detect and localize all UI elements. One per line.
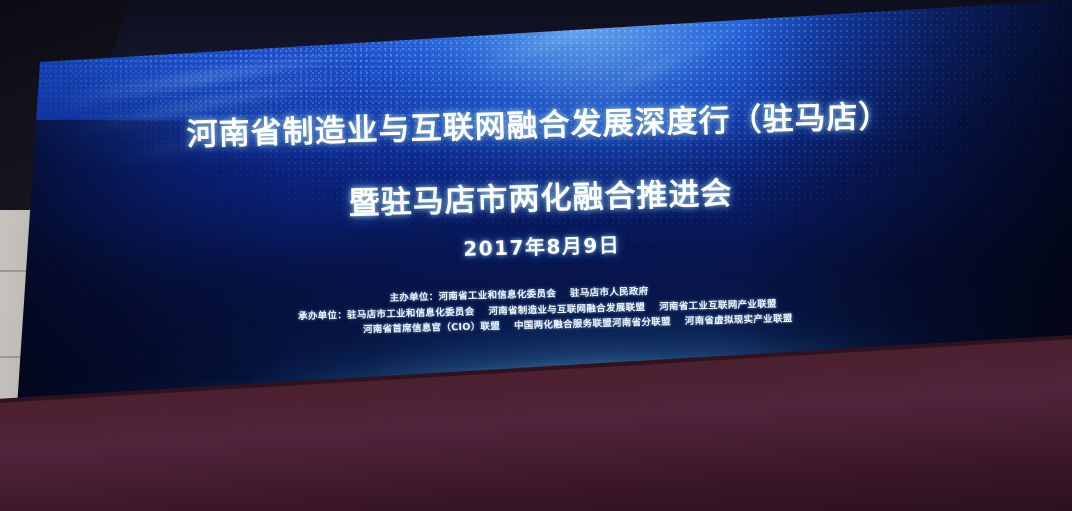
organizer-segment: 河南省制造业与互联网融合发展联盟 [488,302,645,317]
organizer-segment: 主办单位：河南省工业和信息化委员会 [389,288,556,303]
organizer-segment: 中国两化融合服务联盟河南省分联盟 [514,316,671,331]
organizer-segment: 河南省虚拟现实产业联盟 [685,313,793,327]
organizer-segment: 驻马店市人民政府 [570,286,649,299]
event-title-line-1: 河南省制造业与互联网融合发展深度行（驻马店） [2,86,1072,159]
conference-hall-photo: 河南省制造业与互联网融合发展深度行（驻马店） 暨驻马店市两化融合推进会 2017… [0,0,1072,511]
organizer-segment: 河南省首席信息官（CIO）联盟 [363,321,500,336]
organizer-segment: 河南省工业互联网产业联盟 [659,298,777,312]
organizer-block: 主办单位：河南省工业和信息化委员会驻马店市人民政府 承办单位：驻马店市工业和信息… [1,273,1072,348]
